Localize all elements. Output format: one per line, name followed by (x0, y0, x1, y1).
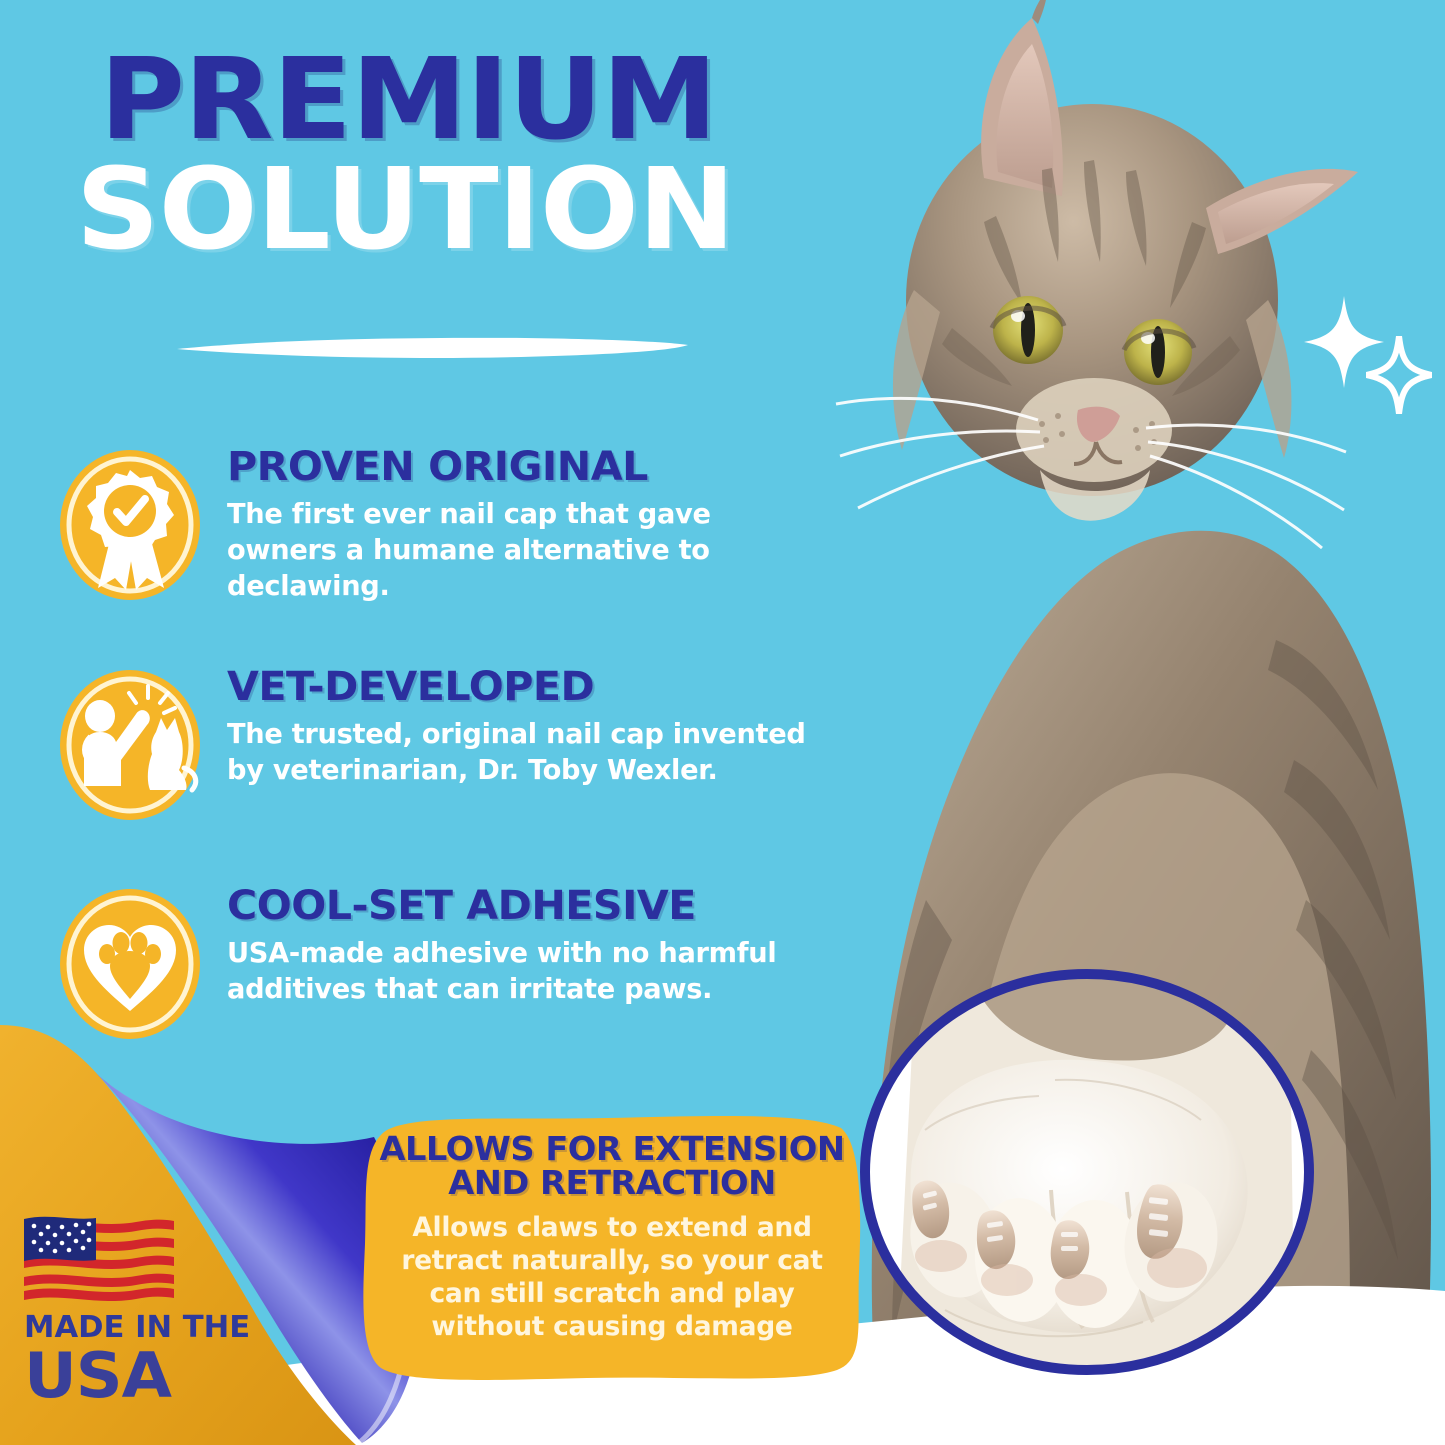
cat-paw-nail-caps-inset (855, 960, 1335, 1390)
vet-highfive-cat-icon (58, 668, 203, 823)
headline-line-solution: SOLUTION (0, 158, 826, 262)
sparkle-outline-icon (1366, 336, 1432, 419)
brush-underline-swoosh (175, 336, 690, 360)
usa-label: USA (24, 1345, 266, 1407)
callout-description: Allows claws to extend and retract natur… (381, 1211, 843, 1344)
usa-flag-icon (24, 1215, 174, 1301)
feature-description: The first ever nail cap that gave owners… (227, 497, 812, 604)
feature-title: VET-DEVELOPED (227, 666, 836, 708)
feature-item: PROVEN ORIGINAL The first ever nail cap … (58, 440, 818, 604)
feature-description: The trusted, original nail cap invented … (227, 717, 812, 789)
award-ribbon-check-icon (58, 448, 203, 603)
callout-title: ALLOWS FOR EXTENSION AND RETRACTION (376, 1132, 847, 1201)
made-in-usa-badge: MADE IN THE USA (24, 1215, 254, 1407)
headline-block: PREMIUM SOLUTION (0, 48, 810, 262)
feature-title: PROVEN ORIGINAL (227, 446, 836, 488)
headline-line-premium: PREMIUM (0, 48, 826, 152)
feature-title: COOL-SET ADHESIVE (227, 885, 836, 927)
feature-list: PROVEN ORIGINAL The first ever nail cap … (58, 440, 818, 1098)
feature-item: VET-DEVELOPED The trusted, original nail… (58, 660, 818, 823)
feature-item: COOL-SET ADHESIVE USA-made adhesive with… (58, 879, 818, 1042)
heart-paw-icon (58, 887, 203, 1042)
extension-retraction-callout: ALLOWS FOR EXTENSION AND RETRACTION Allo… (357, 1112, 867, 1382)
product-feature-graphic: PREMIUM SOLUTION (0, 0, 1445, 1445)
feature-description: USA-made adhesive with no harmful additi… (227, 936, 812, 1008)
